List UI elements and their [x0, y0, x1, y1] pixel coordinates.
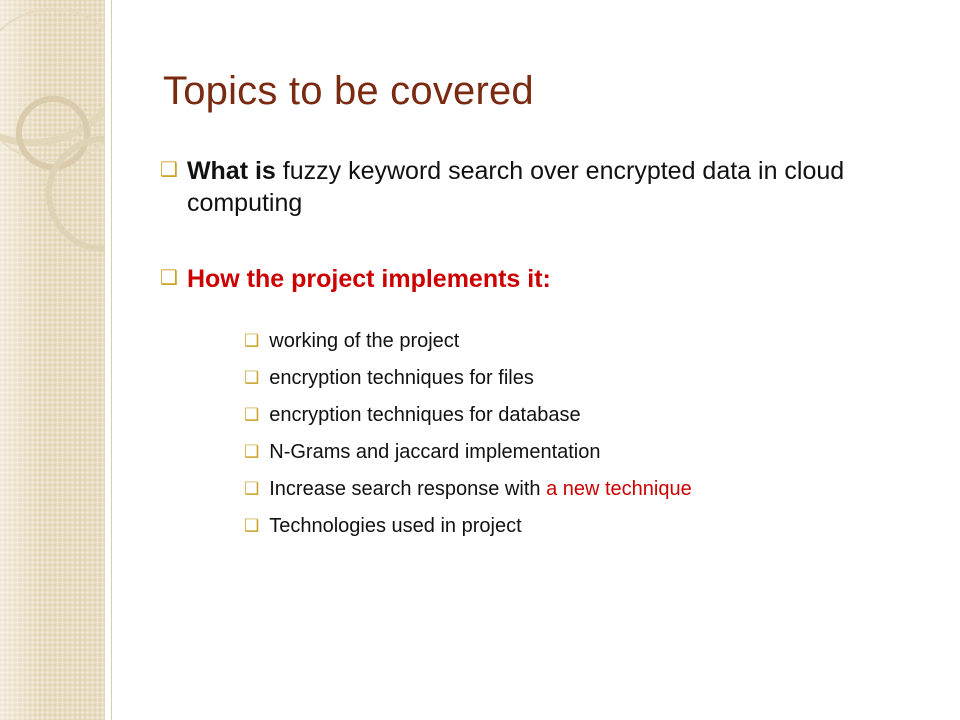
list-item: ❑ working of the project — [244, 329, 940, 353]
list-item-label: working of the project — [269, 329, 459, 353]
list-item-label: Increase search response with a new tech… — [269, 477, 691, 501]
bullet-level1-1-rest: fuzzy keyword search over encrypted data… — [187, 157, 844, 217]
list-item: ❑ N-Grams and jaccard implementation — [244, 440, 940, 464]
sub-bullet-list: ❑ working of the project ❑ encryption te… — [244, 329, 940, 538]
list-item-label: encryption techniques for files — [269, 366, 534, 390]
list-item: ❑ encryption techniques for files — [244, 366, 940, 390]
spacer-1 — [160, 219, 940, 263]
spacer-2 — [160, 295, 940, 329]
bullet-square-icon: ❑ — [244, 517, 259, 534]
decorative-band-edge-line — [111, 0, 112, 720]
list-item-text: Increase search response with — [269, 478, 546, 500]
bullet-square-icon: ❑ — [244, 332, 259, 349]
list-item-text: N-Grams and jaccard implementation — [269, 441, 600, 463]
list-item-text: Technologies used in project — [269, 515, 521, 537]
list-item: ❑ encryption techniques for database — [244, 403, 940, 427]
list-item-text: working of the project — [269, 330, 459, 352]
bullet-level1-2-text: How the project implements it: — [187, 263, 551, 295]
bullet-level1-2-lead: How the project implements it: — [187, 265, 551, 293]
bullet-level1-2: ❑ How the project implements it: — [160, 263, 940, 295]
list-item-label: encryption techniques for database — [269, 403, 580, 427]
list-item: ❑ Technologies used in project — [244, 514, 940, 538]
list-item-text: encryption techniques for files — [269, 367, 534, 389]
list-item-label: Technologies used in project — [269, 514, 521, 538]
bullet-square-icon: ❑ — [244, 406, 259, 423]
list-item-label: N-Grams and jaccard implementation — [269, 440, 600, 464]
slide: Topics to be covered ❑ What is fuzzy key… — [0, 0, 960, 720]
bullet-level1-1: ❑ What is fuzzy keyword search over encr… — [160, 155, 940, 219]
list-item-text: encryption techniques for database — [269, 404, 580, 426]
bullet-square-icon: ❑ — [160, 268, 178, 288]
slide-body: ❑ What is fuzzy keyword search over encr… — [160, 155, 940, 551]
bullet-level1-1-text: What is fuzzy keyword search over encryp… — [187, 155, 887, 219]
bullet-square-icon: ❑ — [244, 369, 259, 386]
list-item: ❑ Increase search response with a new te… — [244, 477, 940, 501]
bullet-square-icon: ❑ — [160, 160, 178, 180]
page-title: Topics to be covered — [163, 69, 534, 113]
list-item-highlight: a new technique — [546, 478, 692, 500]
bullet-square-icon: ❑ — [244, 443, 259, 460]
bullet-level1-1-lead: What is — [187, 157, 276, 185]
bullet-square-icon: ❑ — [244, 480, 259, 497]
